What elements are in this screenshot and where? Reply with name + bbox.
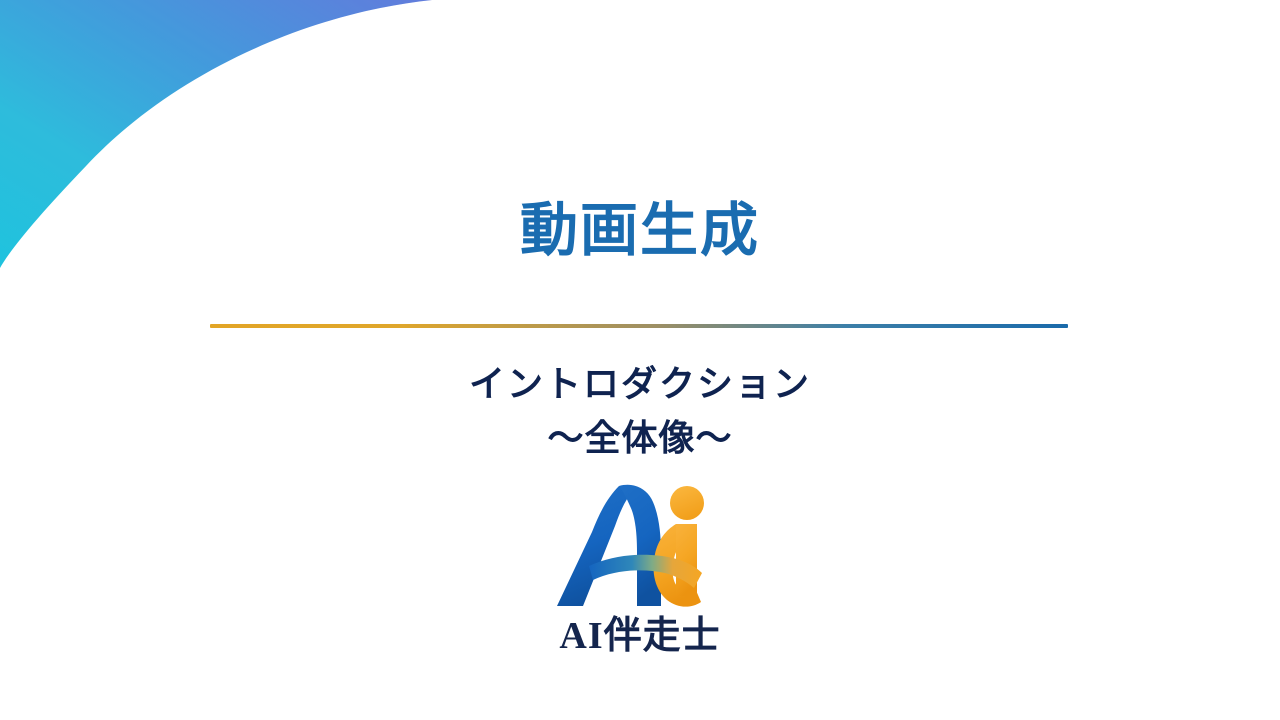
subtitle-block: イントロダクション 〜全体像〜: [0, 357, 1280, 465]
gradient-divider: [210, 324, 1068, 328]
ai-logo-icon: [545, 478, 735, 614]
page-title: 動画生成: [0, 198, 1280, 265]
subtitle-line-primary: イントロダクション: [0, 357, 1280, 411]
brand-logo: AI伴走士: [0, 478, 1280, 658]
brand-wordmark: AI伴走士: [559, 616, 720, 658]
subtitle-line-secondary: 〜全体像〜: [0, 411, 1280, 465]
title-block: 動画生成: [0, 198, 1280, 265]
ai-logo-dot: [670, 486, 704, 520]
slide-canvas: 動画生成 イントロダクション 〜全体像〜: [0, 0, 1280, 720]
